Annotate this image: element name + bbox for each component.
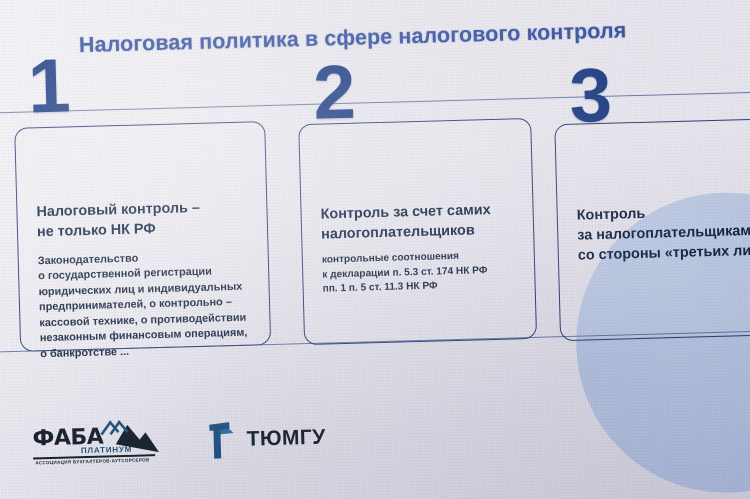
- card-number-1: 1: [27, 48, 71, 125]
- slide-photo: Налоговая политика в сфере налогового ко…: [0, 0, 750, 499]
- card-heading-1: Налоговый контроль –не только НК РФ: [36, 197, 269, 243]
- faba-logo: ФАБА ПЛАТИНУМ АССОЦИАЦИЯ БУХГАЛТЕРОВ-АУТ…: [32, 419, 161, 468]
- card-heading-2: Контроль за счет самихналогоплательщиков: [320, 200, 536, 246]
- logo-row: ФАБА ПЛАТИНУМ АССОЦИАЦИЯ БУХГАЛТЕРОВ-АУТ…: [32, 415, 326, 469]
- tgu-logo-word: ТЮМГУ: [246, 426, 326, 452]
- card-heading-3: Контрольза налогоплательщикамисо стороны…: [577, 200, 750, 266]
- faba-logo-tier: ПЛАТИНУМ: [81, 445, 132, 455]
- divider-top: [0, 91, 750, 114]
- card-body-2: контрольные соотношенияк декларации п. 5…: [322, 248, 538, 298]
- card-number-2: 2: [312, 55, 356, 132]
- projection-screen: Налоговая политика в сфере налогового ко…: [0, 0, 750, 499]
- tgu-logo: ТЮМГУ: [207, 416, 326, 463]
- card-number-3: 3: [569, 58, 613, 135]
- tgu-mark-icon: [207, 420, 238, 461]
- card-body-1: Законодательствоо государственной регист…: [38, 248, 277, 363]
